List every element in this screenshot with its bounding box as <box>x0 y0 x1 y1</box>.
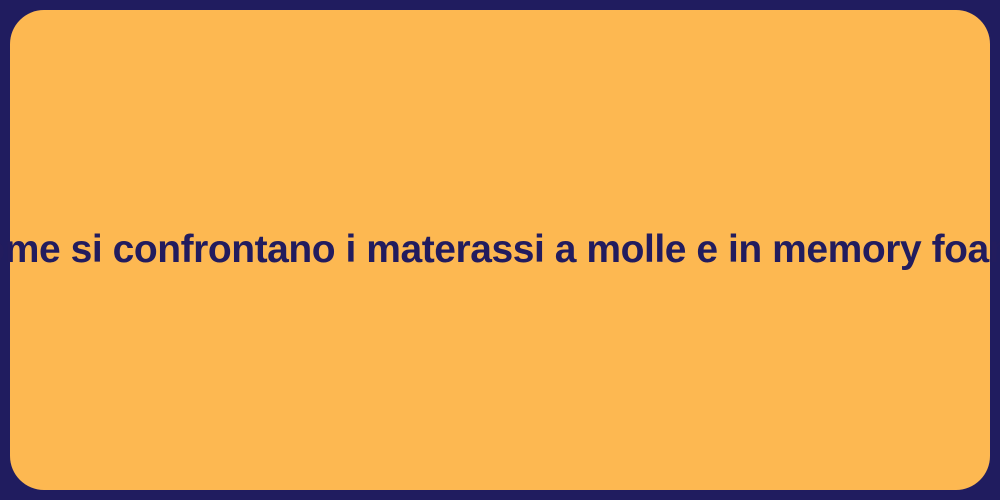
question-card-panel: Come si confrontano i materassi a molle … <box>10 10 990 490</box>
question-title: Come si confrontano i materassi a molle … <box>0 226 1000 275</box>
question-card-frame: Come si confrontano i materassi a molle … <box>0 0 1000 500</box>
